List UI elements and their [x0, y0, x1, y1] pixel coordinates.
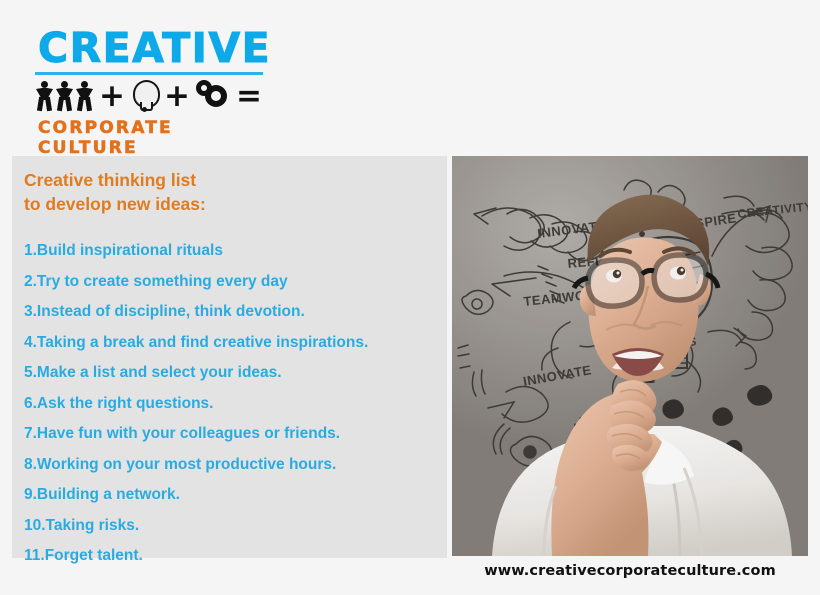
gears-icon [196, 80, 230, 112]
website-url: www.creativecorporateculture.com [452, 563, 808, 579]
plus-sign-icon: + [99, 81, 125, 112]
logo-equation: + + = [35, 78, 272, 114]
thinking-man-photo: INNOVATE INNOVATE TEAMWORK REFLECT INSPI… [452, 156, 808, 556]
logo-tagline: CORPORATE CULTURE [38, 118, 272, 158]
list-item: 9.Building a network. [24, 486, 447, 504]
logo-underline-rule [35, 72, 263, 75]
list-item: 4.Taking a break and find creative inspi… [24, 334, 447, 352]
person-icon [75, 81, 94, 111]
list-item: 1.Build inspirational rituals [24, 242, 447, 260]
list-item: 10.Taking risks. [24, 517, 447, 535]
list-item: 7.Have fun with your colleagues or frien… [24, 425, 447, 443]
lightbulb-icon [131, 80, 158, 112]
list-item: 11.Forget talent. [24, 547, 447, 565]
list-item: 6.Ask the right questions. [24, 395, 447, 413]
equals-sign-icon: = [236, 81, 262, 112]
logo-wordmark: CREATIVE [38, 26, 272, 70]
person-icon [35, 81, 54, 111]
creative-thinking-list-panel: Creative thinking list to develop new id… [12, 156, 447, 558]
list-item: 5.Make a list and select your ideas. [24, 364, 447, 382]
panel-heading: Creative thinking list to develop new id… [24, 168, 447, 216]
list-item: 2.Try to create something every day [24, 273, 447, 291]
brand-logo: CREATIVE + + = CORPORATE CULTURE [32, 26, 272, 158]
list-item: 8.Working on your most productive hours. [24, 456, 447, 474]
person-icon [55, 81, 74, 111]
photo-illustration: INNOVATE INNOVATE TEAMWORK REFLECT INSPI… [452, 156, 808, 556]
list-item: 3.Instead of discipline, think devotion. [24, 303, 447, 321]
plus-sign-icon: + [164, 81, 190, 112]
